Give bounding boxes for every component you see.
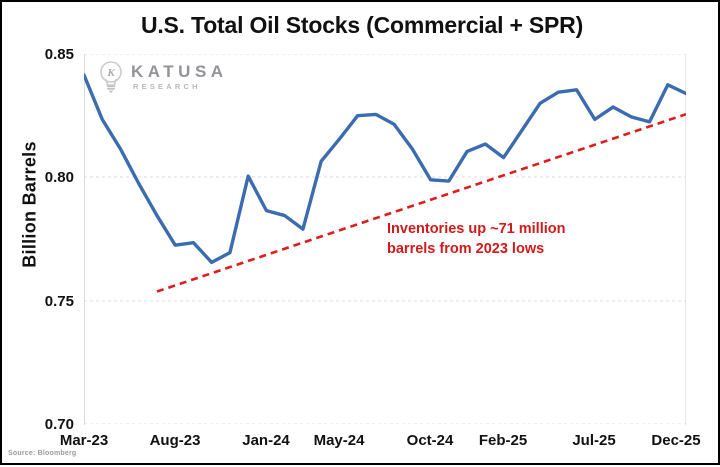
annotation-line-2: barrels from 2023 lows	[387, 240, 565, 260]
x-tick-jan-24: Jan-24	[242, 432, 290, 449]
annotation-line-1: Inventories up ~71 million	[387, 220, 565, 240]
y-axis-ticks: 0.85 0.80 0.75 0.70	[12, 2, 74, 467]
x-tick-may-24: May-24	[314, 432, 365, 449]
y-tick-075: 0.75	[14, 293, 74, 310]
chart-plot-area	[84, 54, 686, 424]
katusa-research-logo: K KATUSA RESEARCH	[98, 60, 228, 94]
x-tick-dec-25: Dec-25	[651, 432, 700, 449]
x-tick-jul-25: Jul-25	[572, 432, 615, 449]
logo-main-text: KATUSA	[131, 63, 228, 80]
x-tick-oct-24: Oct-24	[407, 432, 454, 449]
logo-monogram: K	[106, 67, 115, 79]
y-tick-080: 0.80	[14, 169, 74, 186]
gridlines	[84, 54, 686, 424]
y-tick-070: 0.70	[14, 416, 74, 433]
trendline	[157, 114, 686, 291]
logo-sub-text: RESEARCH	[133, 83, 228, 91]
x-tick-mar-23: Mar-23	[60, 432, 108, 449]
chart-frame: U.S. Total Oil Stocks (Commercial + SPR)…	[0, 0, 720, 465]
x-tick-aug-23: Aug-23	[150, 432, 201, 449]
x-tick-feb-25: Feb-25	[479, 432, 527, 449]
logo-wordmark: KATUSA RESEARCH	[131, 63, 228, 91]
source-caption: Source: Bloomberg	[8, 450, 76, 457]
y-tick-085: 0.85	[14, 46, 74, 63]
annotation-inventories: Inventories up ~71 million barrels from …	[387, 220, 565, 259]
page-title: U.S. Total Oil Stocks (Commercial + SPR)	[2, 12, 720, 39]
lightbulb-icon: K	[98, 60, 124, 94]
data-series-line	[84, 75, 686, 262]
